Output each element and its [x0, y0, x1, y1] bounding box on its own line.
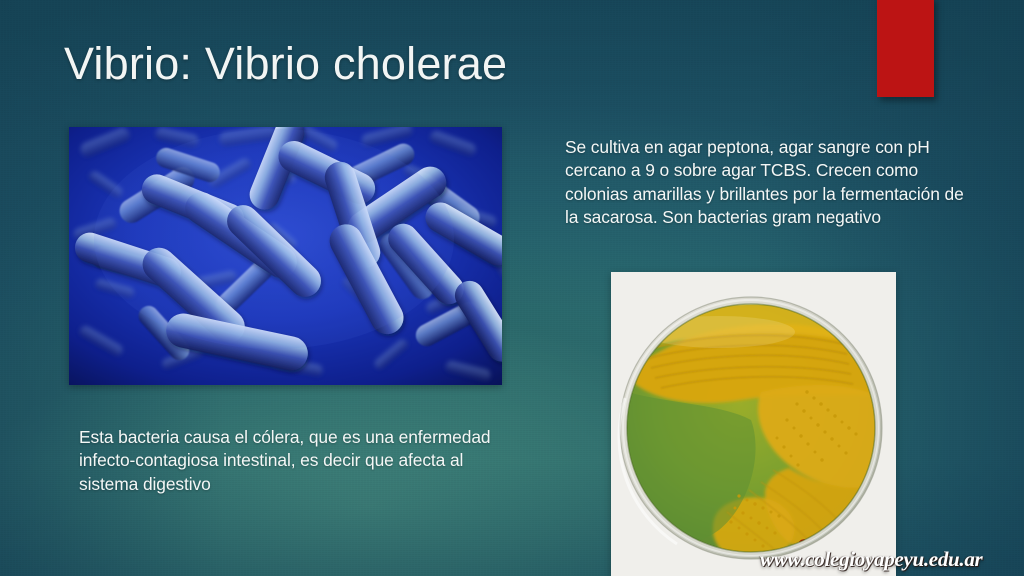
vibrio-bacteria-micrograph	[69, 127, 502, 385]
presentation-slide: Vibrio: Vibrio cholerae	[0, 0, 1024, 576]
culture-description-text: Se cultiva en agar peptona, agar sangre …	[565, 136, 965, 230]
site-watermark: www.colegioyapeyu.edu.ar	[760, 547, 982, 572]
tcbs-agar-plate-photo	[611, 272, 896, 576]
slide-title: Vibrio: Vibrio cholerae	[64, 38, 507, 90]
disease-description-text: Esta bacteria causa el cólera, que es un…	[79, 426, 509, 496]
red-accent-bar	[877, 0, 934, 97]
